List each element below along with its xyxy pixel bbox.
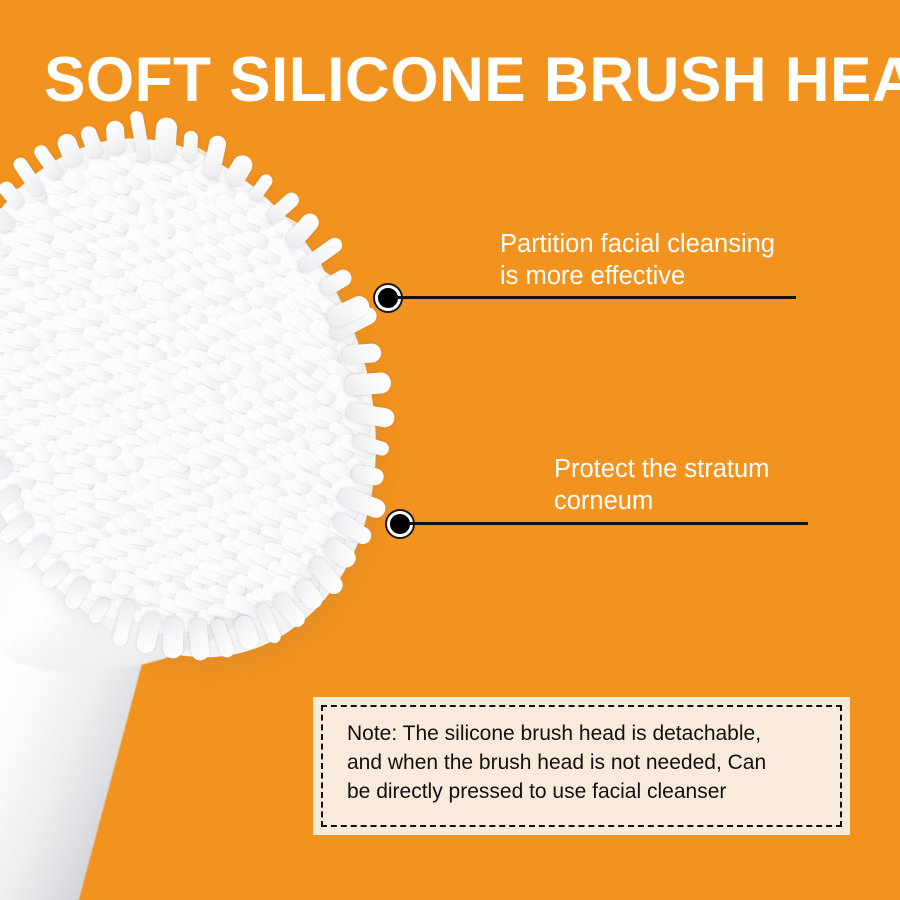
note-box: Note: The silicone brush head is detacha… bbox=[313, 697, 850, 835]
bristle-tooth bbox=[344, 372, 391, 396]
note-text: Note: The silicone brush head is detacha… bbox=[347, 719, 817, 806]
bristle-tooth bbox=[154, 117, 178, 163]
bristle-tooth bbox=[163, 617, 184, 659]
bristle-tooth bbox=[106, 120, 126, 154]
callout-line-protect-stratum-corneum bbox=[408, 522, 808, 525]
callout-text-protect-stratum-corneum: Protect the stratum corneum bbox=[554, 453, 854, 517]
silicone-bristle-field bbox=[0, 77, 440, 699]
callout-line-partition-cleansing bbox=[396, 296, 796, 299]
page-title: SOFT SILICONE BRUSH HEAD bbox=[44, 49, 862, 112]
product-infographic-poster: SOFT SILICONE BRUSH HEAD Partition facia… bbox=[0, 0, 900, 900]
bristle-tooth bbox=[342, 343, 382, 365]
callout-text-partition-cleansing: Partition facial cleansing is more effec… bbox=[500, 228, 830, 292]
bristle-tooth bbox=[183, 131, 198, 162]
